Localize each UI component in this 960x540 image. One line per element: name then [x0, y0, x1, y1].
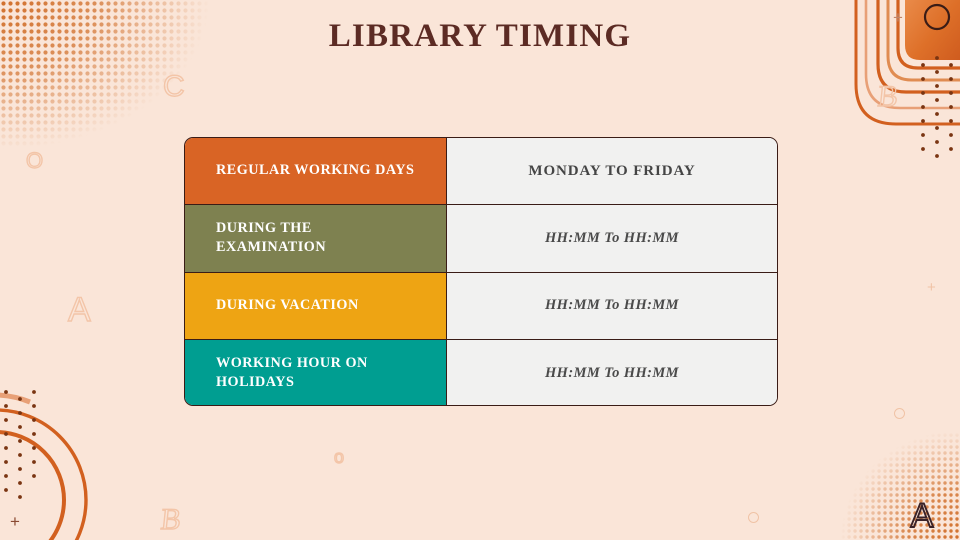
letter-b-bottom: B: [159, 505, 182, 535]
slide-canvas: A C O A B o B + + + LIBRARY TIMING REGUL…: [0, 0, 960, 540]
row-label-regular-working-days: REGULAR WORKING DAYS: [185, 138, 447, 204]
table-row: DURING VACATION HH:MM To HH:MM: [185, 273, 777, 340]
table-row: REGULAR WORKING DAYS MONDAY TO FRIDAY: [185, 138, 777, 205]
row-value-during-vacation: HH:MM To HH:MM: [447, 273, 777, 339]
letter-a-bottom-right-glyph: A: [911, 497, 934, 535]
dot-grid-bottom-left: [4, 390, 36, 499]
plus-bottom-left: +: [10, 513, 20, 530]
ring-bottom-center: [748, 512, 759, 523]
plus-mid-right: +: [927, 280, 936, 295]
row-value-regular-working-days: MONDAY TO FRIDAY: [447, 138, 777, 204]
halftone-bottom-right: [840, 430, 960, 540]
letter-a-left: A: [68, 293, 91, 327]
letter-o-bottom: o: [334, 448, 344, 466]
table-row: DURING THE EXAMINATION HH:MM To HH:MM: [185, 205, 777, 272]
ring-mid-right: [894, 408, 905, 419]
letter-b-right: B: [876, 82, 899, 112]
row-label-during-the-examination: DURING THE EXAMINATION: [185, 205, 447, 271]
table-row: WORKING HOUR ON HOLIDAYS HH:MM To HH:MM: [185, 340, 777, 406]
dot-grid-top-right: [921, 56, 953, 158]
letter-o-left: O: [26, 150, 43, 172]
corner-shape-bottom-left: [0, 395, 86, 540]
letter-c: C: [163, 72, 185, 102]
row-label-working-hour-on-holidays: WORKING HOUR ON HOLIDAYS: [185, 340, 447, 406]
page-title: LIBRARY TIMING: [0, 18, 960, 55]
library-timing-table: REGULAR WORKING DAYS MONDAY TO FRIDAY DU…: [184, 137, 778, 406]
row-value-working-hour-on-holidays: HH:MM To HH:MM: [447, 340, 777, 406]
row-label-during-vacation: DURING VACATION: [185, 273, 447, 339]
row-value-during-the-examination: HH:MM To HH:MM: [447, 205, 777, 271]
